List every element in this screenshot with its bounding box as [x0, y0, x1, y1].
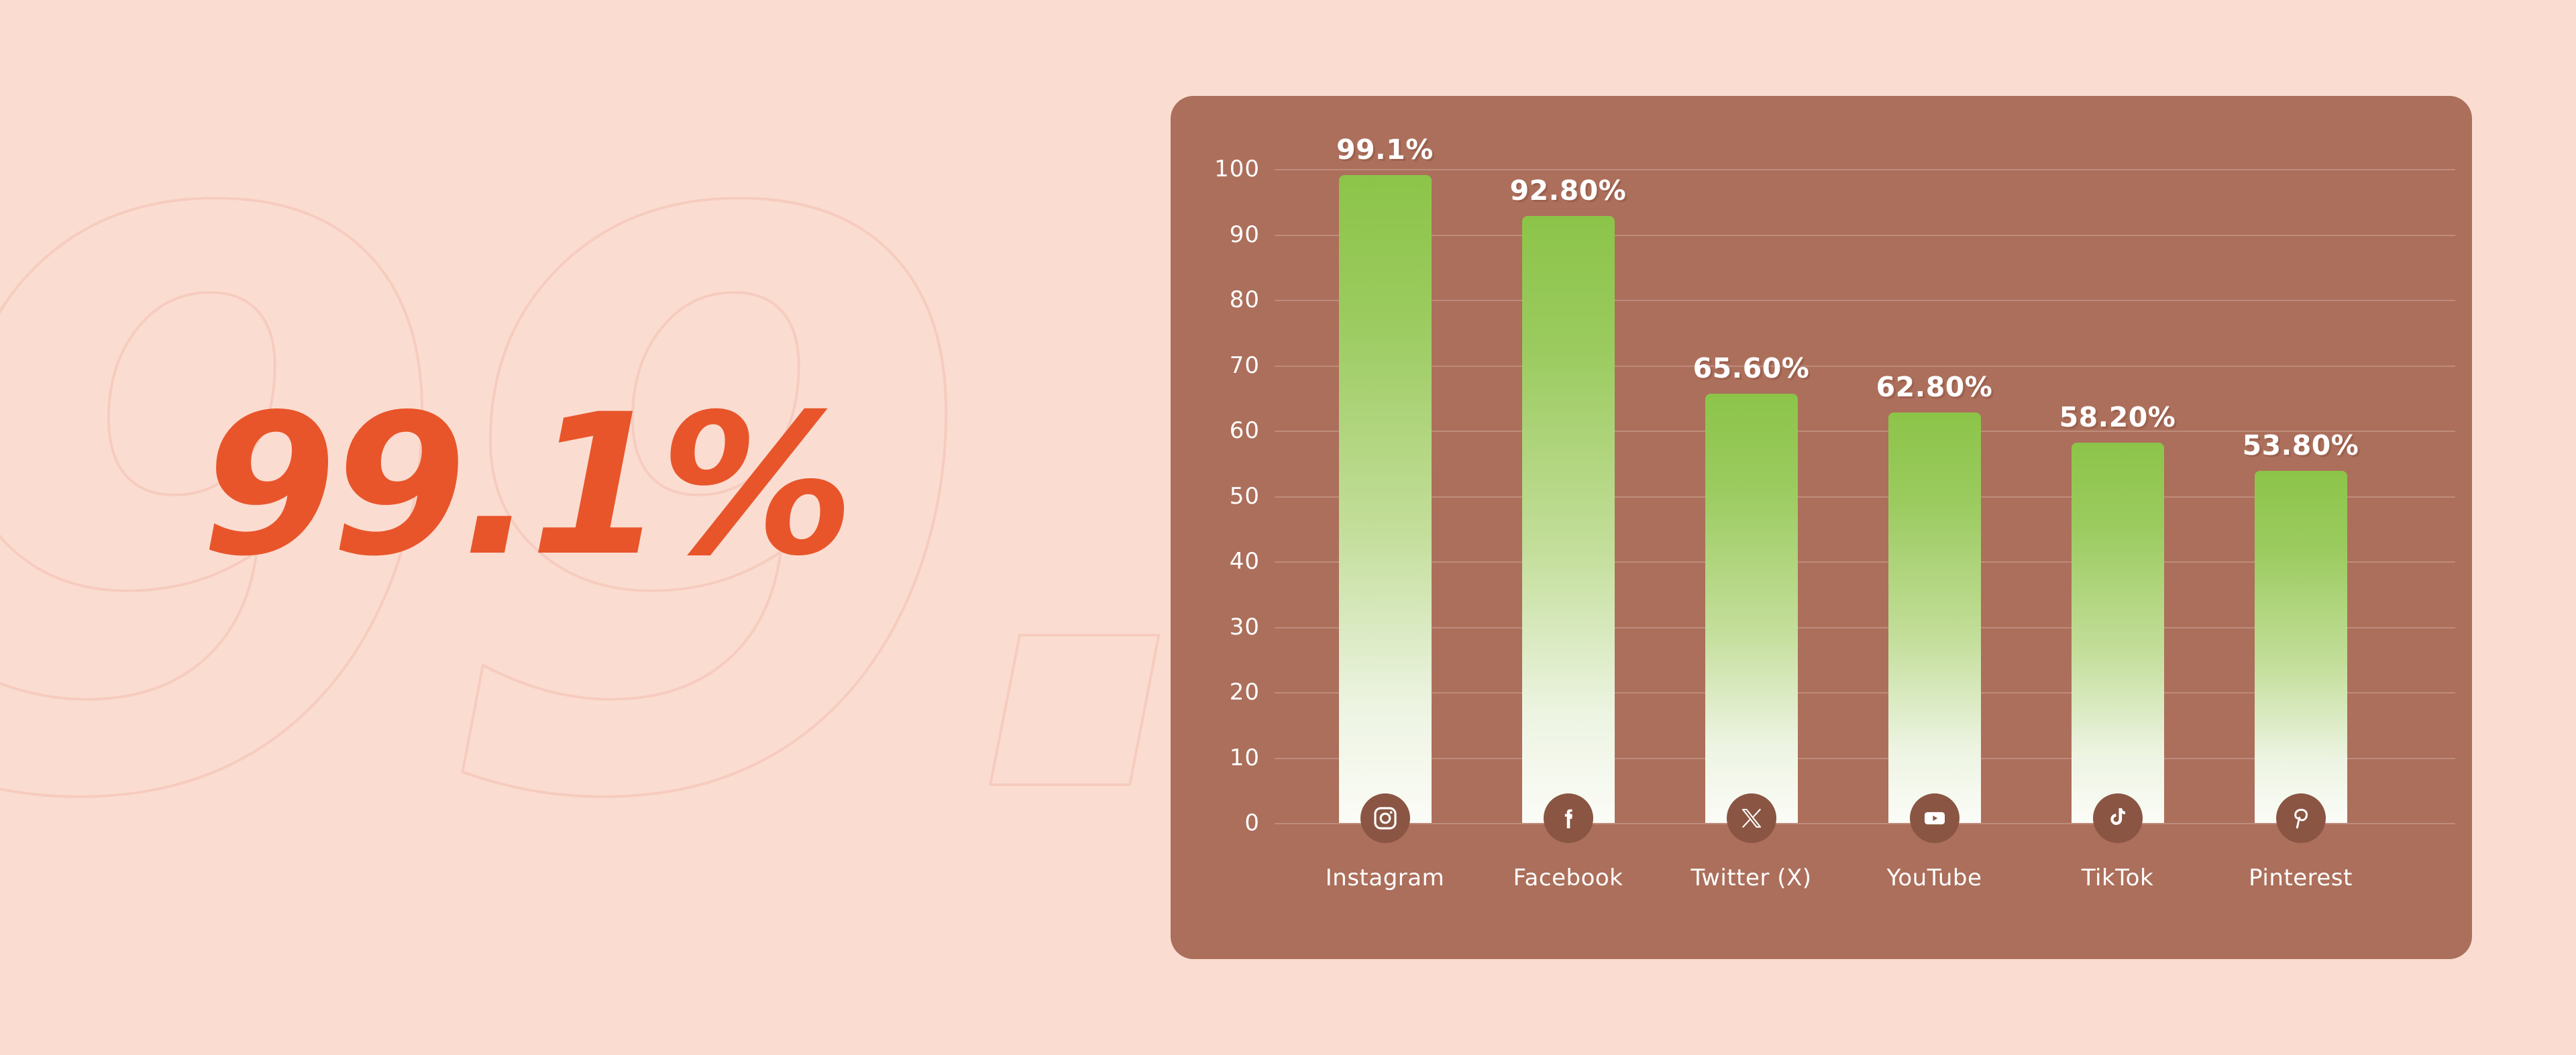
- x-axis-category: Twitter (X): [1660, 823, 1843, 944]
- bar-value-label: 65.60%: [1693, 352, 1810, 384]
- x-axis-category: TikTok: [2026, 823, 2209, 944]
- bar-twitter-x[interactable]: 65.60%: [1705, 394, 1798, 823]
- y-axis-tick-label: 60: [1230, 417, 1260, 444]
- bar-facebook[interactable]: 92.80%: [1522, 216, 1615, 823]
- bar-value-label: 53.80%: [2243, 429, 2359, 461]
- x-axis-label: TikTok: [2082, 865, 2153, 891]
- x-axis-category: YouTube: [1843, 823, 2026, 944]
- bar-slot: 62.80%: [1843, 169, 2026, 823]
- x-axis-label: Pinterest: [2249, 865, 2353, 891]
- bar-slot: 65.60%: [1660, 169, 1843, 823]
- bar-tiktok[interactable]: 58.20%: [2072, 443, 2164, 823]
- x-axis-category: Pinterest: [2209, 823, 2392, 944]
- bar-slot: 53.80%: [2209, 169, 2392, 823]
- y-axis-tick-label: 90: [1230, 221, 1260, 248]
- bar-value-label: 92.80%: [1510, 174, 1627, 207]
- bar-slot: 58.20%: [2026, 169, 2209, 823]
- x-axis-label: Instagram: [1326, 865, 1444, 891]
- tiktok-icon[interactable]: [2093, 793, 2143, 843]
- twitter-x-icon[interactable]: [1727, 793, 1776, 843]
- youtube-icon[interactable]: [1910, 793, 1960, 843]
- bar-youtube[interactable]: 62.80%: [1888, 412, 1981, 823]
- instagram-icon[interactable]: [1360, 793, 1410, 843]
- y-axis-tick-label: 50: [1230, 483, 1260, 510]
- plot-area: 1009080706050403020100 99.1%92.80%65.60%…: [1275, 169, 2455, 823]
- facebook-icon[interactable]: [1544, 793, 1593, 843]
- y-axis-tick-label: 40: [1230, 548, 1260, 575]
- bar-slot: 92.80%: [1477, 169, 1660, 823]
- pinterest-icon[interactable]: [2276, 793, 2326, 843]
- x-axis-label: Facebook: [1513, 865, 1623, 891]
- y-axis-tick-label: 0: [1244, 810, 1260, 836]
- y-axis-tick-label: 20: [1230, 679, 1260, 706]
- x-axis-label: YouTube: [1887, 865, 1982, 891]
- bar-instagram[interactable]: 99.1%: [1339, 175, 1432, 823]
- bar-series: 99.1%92.80%65.60%62.80%58.20%53.80%: [1275, 169, 2455, 823]
- hero-percentage: 99.1%: [201, 389, 849, 584]
- hero-stat: 99.1%: [201, 389, 849, 584]
- bar-slot: 99.1%: [1293, 169, 1477, 823]
- bar-chart-card: 1009080706050403020100 99.1%92.80%65.60%…: [1171, 96, 2472, 959]
- y-axis-tick-label: 80: [1230, 286, 1260, 313]
- x-axis-category: Facebook: [1477, 823, 1660, 944]
- y-axis-tick-label: 30: [1230, 614, 1260, 641]
- y-axis-tick-label: 70: [1230, 352, 1260, 379]
- y-axis-tick-label: 10: [1230, 744, 1260, 771]
- bar-value-label: 99.1%: [1336, 133, 1434, 166]
- x-axis-category: Instagram: [1293, 823, 1477, 944]
- x-axis: InstagramFacebook Twitter (X) YouTubeTik…: [1275, 823, 2455, 944]
- bar-value-label: 62.80%: [1876, 371, 1993, 403]
- bar-value-label: 58.20%: [2059, 401, 2176, 433]
- y-axis-tick-label: 100: [1214, 156, 1260, 182]
- x-axis-label: Twitter (X): [1690, 865, 1811, 891]
- bar-pinterest[interactable]: 53.80%: [2255, 471, 2347, 823]
